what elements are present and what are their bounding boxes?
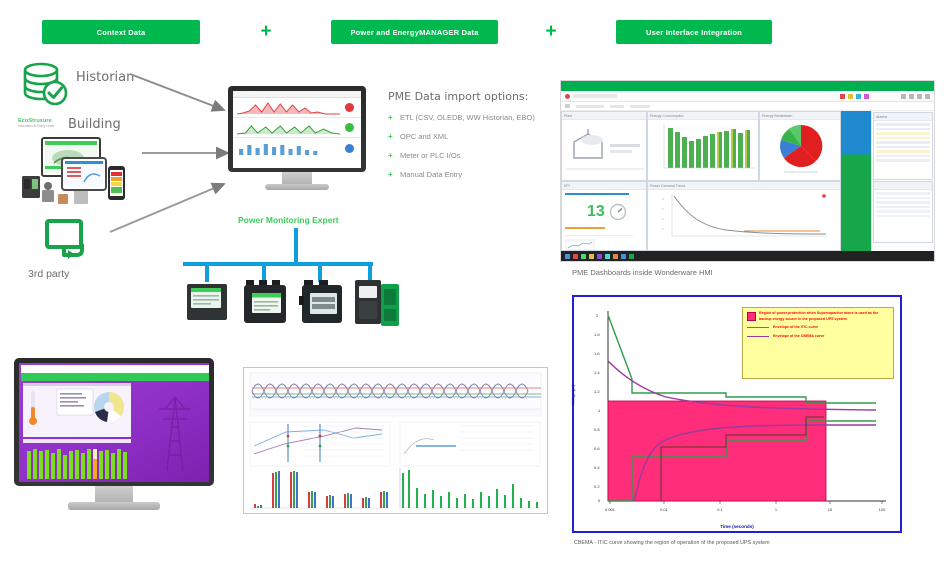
dashboard-monitor: [14, 358, 214, 510]
device-power-meter-2: [299, 280, 343, 331]
pme-screen-topbar: [233, 91, 361, 98]
pme-import-options-title: PME Data import options:: [388, 90, 538, 103]
historian-label: Historian: [76, 70, 134, 85]
building-label: Building: [68, 117, 121, 132]
hmi-panel-breakdown-title: Energy Breakdown: [760, 112, 840, 120]
banner-user-interface-integration[interactable]: User Interface Integration: [616, 20, 772, 44]
hmi-icon-grey-1[interactable]: [901, 94, 906, 99]
plus-separator-1: +: [256, 22, 276, 42]
itic-cbema-chart: 2 1.8 1.6 1.4 1.2 1 0.8 0.6 0.4 0.2 0 0.…: [572, 295, 902, 533]
svg-text:2: 2: [596, 313, 599, 318]
pme-import-options-list: ETL (CSV, OLEDB, WW Historian, EBO) OPC …: [388, 113, 538, 180]
legend-label-cbema: Envelope of the CBEMA curve: [773, 334, 824, 340]
svg-text:0.4: 0.4: [594, 465, 600, 470]
pme-screen-row-blue: [233, 138, 361, 158]
banner-context-data[interactable]: Context Data: [42, 20, 200, 44]
svg-text:8: 8: [662, 197, 664, 201]
header-banner-row: Context Data + Power and EnergyMANAGER D…: [0, 20, 944, 46]
svg-text:4: 4: [662, 217, 664, 221]
hmi-tab-2[interactable]: [576, 105, 604, 108]
dashboard-monitor-screen: [19, 363, 209, 482]
power-monitoring-expert-label: Power Monitoring Expert: [238, 215, 339, 225]
legend-line-itic: [747, 327, 769, 328]
status-dot-green: [345, 123, 354, 132]
banner-power-energymanager-data[interactable]: Power and EnergyMANAGER Data: [331, 20, 498, 44]
svg-text:0: 0: [598, 498, 601, 503]
ecostruxure-logo-tagline: Innovation At Every Level: [18, 124, 66, 128]
bus-riser-1: [205, 266, 209, 282]
hmi-sidebar: Alarms: [871, 111, 934, 251]
svg-text:0.6: 0.6: [594, 446, 600, 451]
import-option-manual-entry: Manual Data Entry: [388, 170, 538, 180]
hmi-panel-kpi[interactable]: KPI 13: [561, 181, 647, 251]
svg-text:0.001: 0.001: [605, 507, 616, 512]
legend-swatch-region: [747, 312, 756, 321]
svg-text:0.8: 0.8: [594, 427, 600, 432]
hmi-scroll-strip-2[interactable]: [841, 181, 871, 251]
pme-monitor-base: [265, 184, 329, 190]
hmi-icon-grey-3[interactable]: [917, 94, 922, 99]
hmi-kpi-value: 13: [587, 204, 605, 220]
hmi-kpi-rule: [565, 193, 629, 195]
legend-line-cbema: [747, 336, 769, 337]
itic-chart-caption: CBEMA - ITIC curve showing the region of…: [574, 540, 770, 546]
svg-text:1.2: 1.2: [594, 389, 600, 394]
hmi-dashboard-screenshot: Plant Energy Consumption: [560, 80, 935, 262]
third-party-label: 3rd party: [28, 268, 69, 280]
hmi-toolbar-field[interactable]: [573, 94, 617, 98]
hmi-screenshot-caption: PME Dashboards inside Wonderware HMI: [572, 268, 713, 277]
legend-entry-region: Region of power protection when Supercap…: [747, 311, 889, 322]
hmi-kpi-sparkline: [565, 239, 595, 251]
legend-label-itic: Envelope of the ITIC curve: [773, 325, 818, 331]
device-panel-display: [186, 282, 228, 329]
hmi-tab-1[interactable]: [565, 104, 570, 108]
hmi-tab-4[interactable]: [630, 105, 650, 108]
bus-riser-main: [294, 228, 298, 264]
hmi-dashboard-body: Plant Energy Consumption: [561, 111, 934, 251]
svg-text:10: 10: [828, 507, 833, 512]
svg-text:1.4: 1.4: [594, 370, 600, 375]
legend-label-region: Region of power protection when Supercap…: [759, 311, 889, 322]
hmi-panel-energy-breakdown[interactable]: Energy Breakdown: [759, 111, 841, 181]
hmi-panel-alarms[interactable]: Alarms: [873, 112, 933, 180]
hmi-icon-yellow[interactable]: [848, 94, 853, 99]
hmi-icon-purple[interactable]: [864, 94, 869, 99]
device-power-meter-1: [243, 280, 287, 331]
arrow-third-party-to-pme: [108, 180, 238, 240]
hmi-tab-3[interactable]: [610, 105, 624, 108]
pme-monitor-screen: [233, 91, 361, 168]
import-option-etl: ETL (CSV, OLEDB, WW Historian, EBO): [388, 113, 538, 123]
svg-text:1.8: 1.8: [594, 332, 600, 337]
hmi-icon-blue[interactable]: [856, 94, 861, 99]
svg-text:1.6: 1.6: [594, 351, 600, 356]
dashboard-monitor-base: [68, 502, 160, 510]
pme-monitor-bezel: [228, 86, 366, 172]
import-option-opc-xml: OPC and XML: [388, 132, 538, 142]
database-historian-icon: [20, 62, 70, 108]
hmi-panel-events-title: [874, 182, 932, 190]
hmi-kpi-caption: [565, 210, 583, 214]
hmi-panel-power-demand-trend[interactable]: Power Demand Trend 86 42: [647, 181, 841, 251]
hmi-toolbar-primary: [561, 91, 934, 102]
device-circuit-breaker: [351, 278, 403, 335]
svg-text:6: 6: [662, 207, 664, 211]
power-quality-analysis-panel: [243, 367, 548, 514]
legend-entry-cbema: Envelope of the CBEMA curve: [747, 334, 889, 340]
hmi-panel-events[interactable]: [873, 181, 933, 243]
hmi-panel-plant[interactable]: Plant: [561, 111, 647, 181]
hmi-kpi-gauge-icon: [609, 203, 627, 221]
hmi-title-bar: [561, 81, 934, 91]
svg-text:0.01: 0.01: [660, 507, 669, 512]
pme-screen-row-red: [233, 98, 361, 118]
pme-monitor: [228, 86, 366, 190]
status-dot-blue: [345, 144, 354, 153]
arrow-historian-to-pme: [128, 70, 238, 120]
hmi-panel-energy-title: Energy Consumption: [648, 112, 758, 120]
svg-text:0.1: 0.1: [717, 507, 723, 512]
ecostruxure-logo: EcoStruxure Innovation At Every Level: [18, 118, 66, 131]
pme-screen-row-green: [233, 118, 361, 138]
hmi-scroll-strip[interactable]: [841, 111, 871, 181]
status-dot-red: [345, 103, 354, 112]
legend-entry-itic: Envelope of the ITIC curve: [747, 325, 889, 331]
hmi-icon-grey-2[interactable]: [909, 94, 914, 99]
hmi-icon-grey-4[interactable]: [925, 94, 930, 99]
hmi-toolbar-dot-red: [565, 94, 570, 99]
svg-text:0.2: 0.2: [594, 484, 600, 489]
svg-text:2: 2: [662, 227, 664, 231]
hmi-toolbar-secondary: [561, 102, 934, 111]
dashboard-monitor-bezel: [14, 358, 214, 486]
hmi-kpi-divider: [565, 235, 633, 236]
chart-y-axis-label: Voltage (pu): [571, 385, 575, 406]
pme-import-options: PME Data import options: ETL (CSV, OLEDB…: [388, 90, 538, 189]
hmi-dashboard-main: Plant Energy Consumption: [561, 111, 871, 251]
hmi-panel-kpi-title: KPI: [562, 182, 646, 190]
dashboard-monitor-neck: [95, 486, 133, 502]
hmi-icon-red[interactable]: [840, 94, 845, 99]
hmi-kpi-bar: [565, 227, 605, 229]
hmi-panel-alarms-title: Alarms: [874, 113, 932, 121]
svg-text:100: 100: [879, 507, 886, 512]
chart-x-axis-label: Time (seconds): [574, 524, 900, 529]
device-bus-line: [183, 262, 373, 266]
hmi-panel-plant-title: Plant: [562, 112, 646, 120]
pme-monitor-neck: [282, 172, 312, 184]
third-party-monitor-icon: [44, 218, 92, 264]
svg-text:1: 1: [598, 408, 601, 413]
plus-separator-2: +: [541, 22, 561, 42]
chart-legend: Region of power protection when Supercap…: [742, 307, 894, 379]
svg-text:1: 1: [775, 507, 778, 512]
arrow-building-to-pme: [140, 145, 240, 161]
hmi-panel-energy-consumption[interactable]: Energy Consumption: [647, 111, 759, 181]
hmi-panel-trend-title: Power Demand Trend: [648, 182, 840, 190]
import-option-meter-plc: Meter or PLC I/Os: [388, 151, 538, 161]
